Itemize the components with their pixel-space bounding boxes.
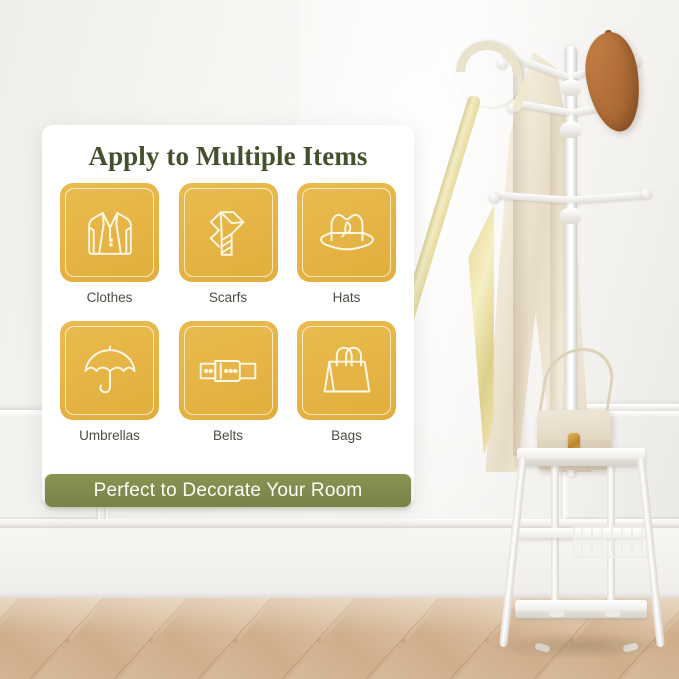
coat-rack-product	[455, 18, 679, 658]
stand-wire-basket	[573, 526, 651, 558]
stand-foot-inner-right	[605, 610, 620, 617]
rack-floor-shadow	[485, 632, 675, 660]
stand-foot-inner-left	[549, 610, 564, 617]
umbrella-stand-base	[503, 448, 663, 656]
brown-leather-beret	[579, 29, 646, 136]
fedora-hat-icon	[317, 207, 377, 259]
banner-text: Perfect to Decorate Your Room	[94, 480, 363, 502]
item-cell-clothes[interactable]: Clothes	[56, 183, 163, 305]
tile-bags[interactable]	[297, 321, 396, 420]
item-grid-row-2: Umbrellas Belts	[56, 321, 400, 443]
rack-hook-arm-lower-right	[571, 191, 645, 203]
item-label-hats: Hats	[293, 290, 400, 305]
belt-icon	[197, 351, 259, 391]
item-label-bags: Bags	[293, 428, 400, 443]
rack-hook-knob-lower-right	[641, 188, 652, 199]
handbag-icon	[320, 343, 374, 399]
stand-top-shelf-edge	[517, 459, 645, 466]
coat-fold-shadow	[513, 66, 529, 456]
item-label-scarfs: Scarfs	[175, 290, 282, 305]
item-label-umbrellas: Umbrellas	[56, 428, 163, 443]
item-cell-umbrellas[interactable]: Umbrellas	[56, 321, 163, 443]
tile-clothes[interactable]	[60, 183, 159, 282]
rack-hub-upper	[560, 80, 582, 96]
tile-hats[interactable]	[297, 183, 396, 282]
product-lifestyle-image: Apply to Multiple Items	[0, 0, 679, 679]
item-cell-scarfs[interactable]: Scarfs	[175, 183, 282, 305]
item-label-clothes: Clothes	[56, 290, 163, 305]
card-title: Apply to Multiple Items	[42, 141, 414, 172]
item-grid-row-1: Clothes Scarfs	[56, 183, 400, 305]
blazer-icon	[81, 204, 139, 262]
stand-bottom-shelf-edge	[515, 611, 647, 618]
item-cell-belts[interactable]: Belts	[175, 321, 282, 443]
item-cell-hats[interactable]: Hats	[293, 183, 400, 305]
bottom-banner: Perfect to Decorate Your Room	[45, 474, 411, 507]
scarf-icon	[202, 204, 254, 262]
umbrella-icon	[81, 342, 139, 400]
tile-belts[interactable]	[179, 321, 278, 420]
stand-outer-leg-left	[499, 458, 527, 648]
tile-scarfs[interactable]	[179, 183, 278, 282]
item-cell-bags[interactable]: Bags	[293, 321, 400, 443]
rack-hub-mid	[560, 122, 582, 138]
item-grid: Clothes Scarfs	[56, 183, 400, 443]
feature-card: Apply to Multiple Items	[42, 125, 414, 506]
item-label-belts: Belts	[175, 428, 282, 443]
rack-hub-lower	[560, 208, 582, 224]
tile-umbrellas[interactable]	[60, 321, 159, 420]
rack-hook-knob-lower-left	[489, 192, 500, 203]
